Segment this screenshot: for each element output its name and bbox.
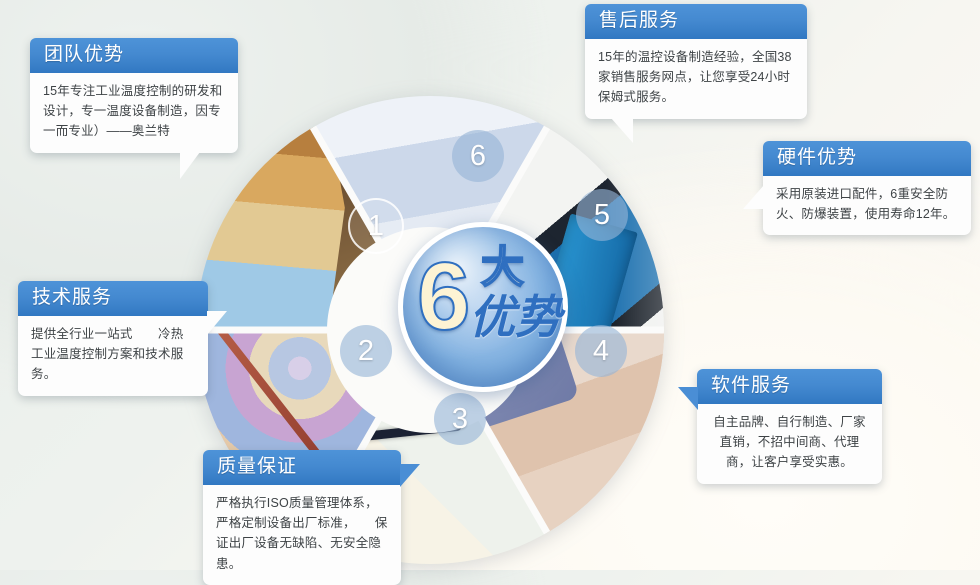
infographic-canvas: 1 2 3 4 5 6 6 大 优势 团队优势 15年专注工业温度控制的研发和设…	[0, 0, 980, 570]
callout-title: 售后服务	[585, 4, 807, 39]
center-text-youshi: 优势	[469, 295, 561, 341]
callout-tail	[180, 152, 200, 179]
callout-after-sales-service[interactable]: 售后服务 15年的温控设备制造经验，全国38家销售服务网点，让您享受24小时保姆…	[585, 4, 807, 119]
segment-badge-1[interactable]: 1	[348, 198, 404, 254]
center-char-da: 大	[481, 247, 524, 290]
callout-body: 自主品牌、自行制造、厂家直销，不招中间商、代理商，让客户享受实惠。	[697, 404, 882, 484]
callout-body: 采用原装进口配件，6重安全防火、防爆装置，使用寿命12年。	[763, 176, 971, 236]
callout-hardware-advantage[interactable]: 硬件优势 采用原装进口配件，6重安全防火、防爆装置，使用寿命12年。	[763, 141, 971, 235]
callout-body: 15年专注工业温度控制的研发和设计，专一温度设备制造，因专一而专业）——奥兰特	[30, 73, 238, 153]
segment-badge-3[interactable]: 3	[434, 393, 486, 445]
callout-title: 硬件优势	[763, 141, 971, 176]
callout-technical-service[interactable]: 技术服务 提供全行业一站式 冷热工业温度控制方案和技术服务。	[18, 281, 208, 396]
callout-tail	[400, 464, 420, 487]
callout-body: 15年的温控设备制造经验，全国38家销售服务网点，让您享受24小时保姆式服务。	[585, 39, 807, 119]
callout-body: 提供全行业一站式 冷热工业温度控制方案和技术服务。	[18, 316, 208, 396]
callout-quality-assurance[interactable]: 质量保证 严格执行ISO质量管理体系，严格定制设备出厂标准， 保证出厂设备无缺陷…	[203, 450, 401, 585]
segment-badge-5[interactable]: 5	[576, 189, 628, 241]
callout-tail	[207, 311, 227, 335]
callout-tail	[611, 118, 633, 143]
segment-badge-2[interactable]: 2	[340, 325, 392, 377]
center-number-six: 6	[417, 249, 470, 345]
callout-title: 团队优势	[30, 38, 238, 73]
callout-title: 质量保证	[203, 450, 401, 485]
center-badge[interactable]: 6 大 优势	[398, 222, 568, 392]
callout-title: 技术服务	[18, 281, 208, 316]
callout-team-advantage[interactable]: 团队优势 15年专注工业温度控制的研发和设计，专一温度设备制造，因专一而专业）—…	[30, 38, 238, 153]
segment-badge-6[interactable]: 6	[452, 130, 504, 182]
callout-tail	[743, 185, 764, 209]
callout-tail	[678, 387, 698, 410]
callout-title: 软件服务	[697, 369, 882, 404]
callout-software-service[interactable]: 软件服务 自主品牌、自行制造、厂家直销，不招中间商、代理商，让客户享受实惠。	[697, 369, 882, 484]
segment-badge-4[interactable]: 4	[575, 325, 627, 377]
